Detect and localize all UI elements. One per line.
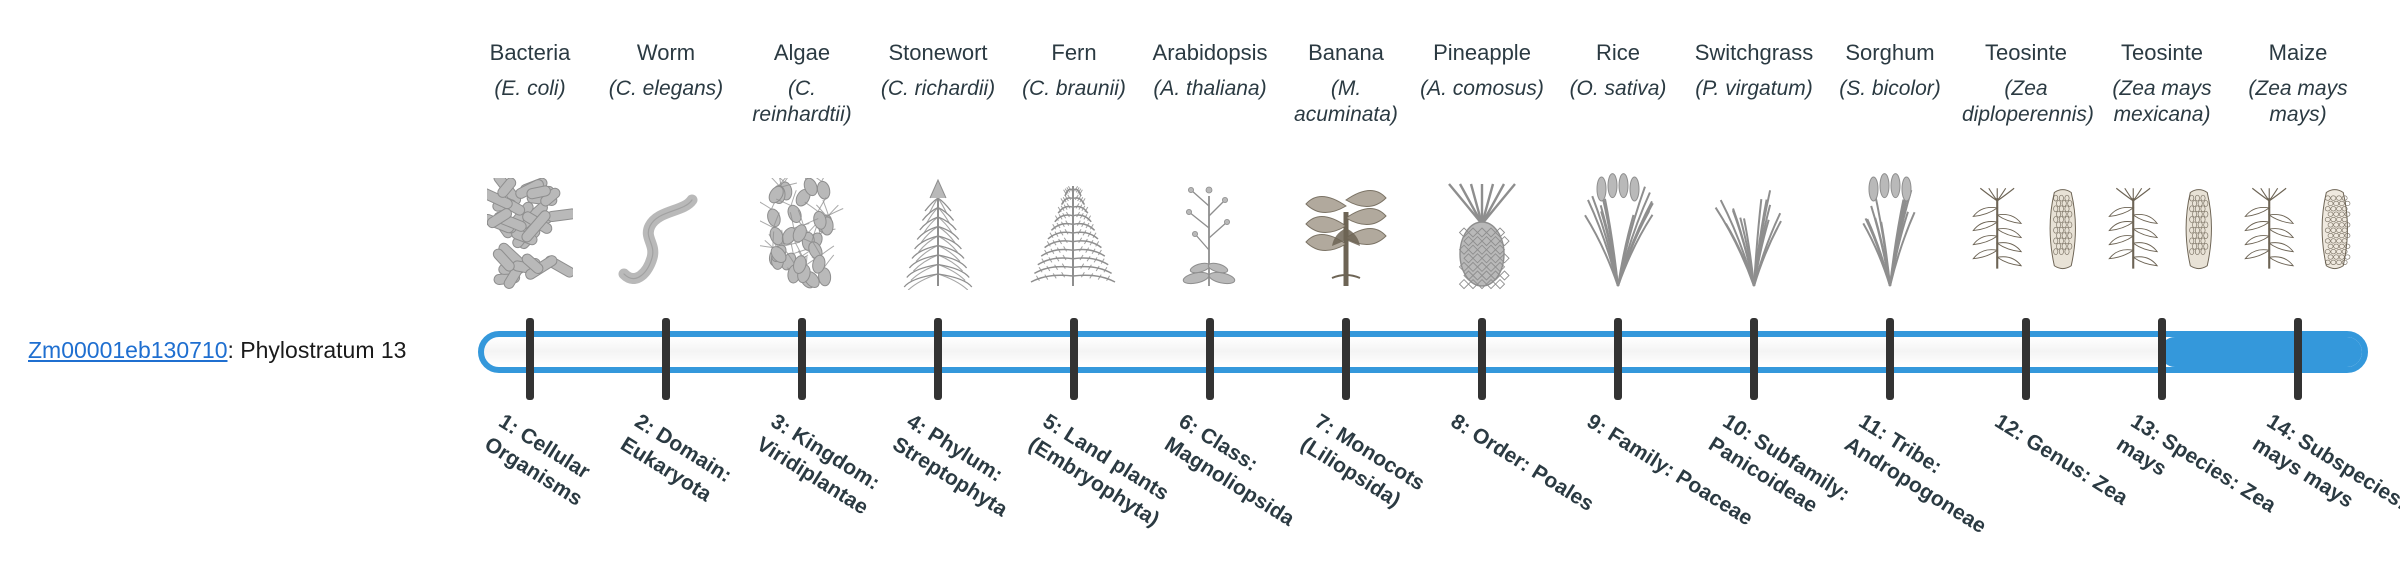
phylostratum-tick-7 xyxy=(1342,318,1350,400)
species-latin-name: (Zea diploperennis) xyxy=(1962,76,2090,128)
phylostratum-tick-4 xyxy=(934,318,942,400)
phylostratum-tick-6 xyxy=(1206,318,1214,400)
species-column-bacteria-1: Bacteria(E. coli) xyxy=(466,38,594,102)
species-column-algae-3: Algae(C. reinhardtii) xyxy=(738,38,866,128)
species-latin-name: (A. thaliana) xyxy=(1146,76,1274,102)
species-common-name: Fern xyxy=(1010,38,1138,68)
phylostratum-tick-1 xyxy=(526,318,534,400)
species-common-name: Banana xyxy=(1282,38,1410,68)
species-common-name: Worm xyxy=(602,38,730,68)
species-common-name: Sorghum xyxy=(1826,38,1954,68)
species-common-name: Bacteria xyxy=(466,38,594,68)
species-column-stonewort-4: Stonewort(C. richardii) xyxy=(874,38,1002,102)
species-column-rice-9: Rice(O. sativa) xyxy=(1554,38,1682,102)
arabidopsis-icon xyxy=(1146,170,1274,290)
stonewort-icon xyxy=(874,170,1002,290)
gene-id-link[interactable]: Zm00001eb130710 xyxy=(28,337,228,363)
bacteria-icon xyxy=(466,170,594,290)
species-latin-name: (M. acuminata) xyxy=(1282,76,1410,128)
phylostratum-track[interactable] xyxy=(478,331,2368,373)
species-column-sorghum-11: Sorghum(S. bicolor) xyxy=(1826,38,1954,102)
species-latin-name: (E. coli) xyxy=(466,76,594,102)
phylostratum-tick-14 xyxy=(2294,318,2302,400)
species-column-maize-14: Maize(Zea mays mays) xyxy=(2234,38,2362,128)
teosinte-diplo-icon xyxy=(1962,170,2090,290)
algae-icon xyxy=(738,170,866,290)
species-column-banana-7: Banana(M. acuminata) xyxy=(1282,38,1410,128)
species-column-pineapple-8: Pineapple(A. comosus) xyxy=(1418,38,1546,102)
maize-icon xyxy=(2234,170,2362,290)
phylostratum-tick-8 xyxy=(1478,318,1486,400)
species-common-name: Rice xyxy=(1554,38,1682,68)
species-latin-name: (Zea mays mexicana) xyxy=(2098,76,2226,128)
species-latin-name: (Zea mays mays) xyxy=(2234,76,2362,128)
phylostratum-tick-13 xyxy=(2158,318,2166,400)
fern-icon xyxy=(1010,170,1138,290)
species-latin-name: (C. braunii) xyxy=(1010,76,1138,102)
phylostratum-tick-3 xyxy=(798,318,806,400)
species-column-arabidopsis-6: Arabidopsis(A. thaliana) xyxy=(1146,38,1274,102)
gene-label-separator: : xyxy=(228,337,241,363)
species-latin-name: (A. comosus) xyxy=(1418,76,1546,102)
worm-icon xyxy=(602,170,730,290)
species-column-worm-2: Worm(C. elegans) xyxy=(602,38,730,102)
species-column-fern-5: Fern(C. braunii) xyxy=(1010,38,1138,102)
phylostratum-value-text: Phylostratum 13 xyxy=(240,337,406,363)
pineapple-icon xyxy=(1418,170,1546,290)
species-common-name: Teosinte xyxy=(1962,38,2090,68)
species-latin-name: (C. richardii) xyxy=(874,76,1002,102)
phylostratum-tick-12 xyxy=(2022,318,2030,400)
species-common-name: Stonewort xyxy=(874,38,1002,68)
species-column-switchgrass-10: Switchgrass(P. virgatum) xyxy=(1690,38,1818,102)
species-common-name: Pineapple xyxy=(1418,38,1546,68)
gene-phylostratum-label: Zm00001eb130710: Phylostratum 13 xyxy=(28,336,458,364)
species-common-name: Maize xyxy=(2234,38,2362,68)
phylostratum-tick-9 xyxy=(1614,318,1622,400)
sorghum-icon xyxy=(1826,170,1954,290)
phylostratum-figure: Zm00001eb130710: Phylostratum 13 Bacteri… xyxy=(0,0,2400,580)
species-latin-name: (C. reinhardtii) xyxy=(738,76,866,128)
switchgrass-icon xyxy=(1690,170,1818,290)
species-common-name: Algae xyxy=(738,38,866,68)
species-column-teosinte-13: Teosinte(Zea mays mexicana) xyxy=(2098,38,2226,128)
phylostratum-tick-10 xyxy=(1750,318,1758,400)
phylostratum-tick-5 xyxy=(1070,318,1078,400)
species-column-teosinte-12: Teosinte(Zea diploperennis) xyxy=(1962,38,2090,128)
species-common-name: Switchgrass xyxy=(1690,38,1818,68)
species-latin-name: (P. virgatum) xyxy=(1690,76,1818,102)
phylostratum-tick-11 xyxy=(1886,318,1894,400)
species-latin-name: (O. sativa) xyxy=(1554,76,1682,102)
species-common-name: Arabidopsis xyxy=(1146,38,1274,68)
teosinte-mex-icon xyxy=(2098,170,2226,290)
species-common-name: Teosinte xyxy=(2098,38,2226,68)
species-latin-name: (C. elegans) xyxy=(602,76,730,102)
species-latin-name: (S. bicolor) xyxy=(1826,76,1954,102)
phylostratum-track-fill xyxy=(2160,337,2368,367)
phylostratum-tick-2 xyxy=(662,318,670,400)
rice-icon xyxy=(1554,170,1682,290)
banana-icon xyxy=(1282,170,1410,290)
